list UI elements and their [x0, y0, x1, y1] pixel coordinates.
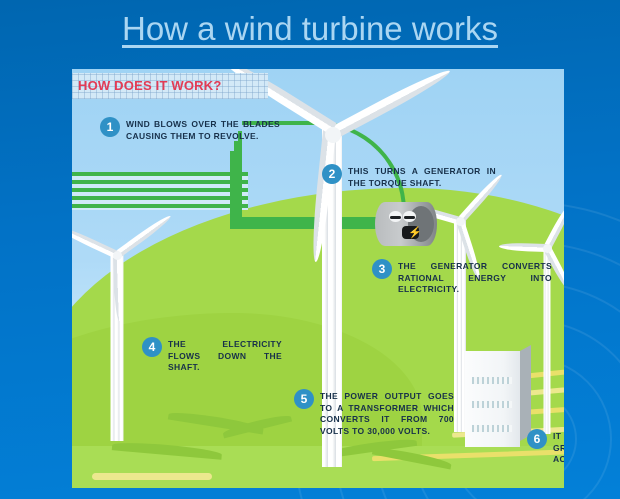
- step-callout-6: 6 IT T GRI ACR: [527, 429, 564, 466]
- step-number-4: 4: [142, 337, 162, 357]
- step-text-4: THE ELECTRICITY FLOWS DOWN THE SHAFT.: [168, 337, 282, 374]
- step-text-5: THE POWER OUTPUT GOES TO A TRANSFORMER W…: [320, 389, 454, 437]
- step-callout-1: 1 WIND BLOWS OVER THE BLADES CAUSING THE…: [100, 117, 280, 142]
- step-number-6: 6: [527, 429, 547, 449]
- step-number-3: 3: [372, 259, 392, 279]
- step-callout-3: 3 THE GENERATOR CONVERTS RATIONAL ENERGY…: [372, 259, 552, 296]
- slide-canvas: How a wind turbine works Q. 11: [0, 0, 620, 499]
- infographic-image: Q. 11: [72, 69, 564, 488]
- step-callout-2: 2 THIS TURNS A GENERATOR IN THE TORQUE S…: [322, 164, 496, 189]
- lightning-bolt-icon: ⚡: [408, 228, 422, 238]
- step-text-3: THE GENERATOR CONVERTS RATIONAL ENERGY I…: [398, 259, 552, 296]
- step-text-1: WIND BLOWS OVER THE BLADES CAUSING THEM …: [126, 117, 280, 142]
- step-callout-4: 4 THE ELECTRICITY FLOWS DOWN THE SHAFT.: [142, 337, 282, 374]
- wind-stream-left: [72, 172, 248, 210]
- step-text-2: THIS TURNS A GENERATOR IN THE TORQUE SHA…: [348, 164, 496, 189]
- step-number-1: 1: [100, 117, 120, 137]
- path-line: [92, 473, 212, 480]
- step-text-6: IT T GRI ACR: [553, 429, 564, 466]
- page-title: How a wind turbine works: [0, 8, 620, 50]
- banner-label: HOW DOES IT WORK?: [78, 78, 222, 93]
- step-callout-5: 5 THE POWER OUTPUT GOES TO A TRANSFORMER…: [294, 389, 454, 437]
- step-number-5: 5: [294, 389, 314, 409]
- how-does-it-work-banner: HOW DOES IT WORK?: [72, 73, 268, 99]
- generator-mascot: ⚡: [375, 202, 437, 246]
- transformer-box: [465, 345, 531, 447]
- step-number-2: 2: [322, 164, 342, 184]
